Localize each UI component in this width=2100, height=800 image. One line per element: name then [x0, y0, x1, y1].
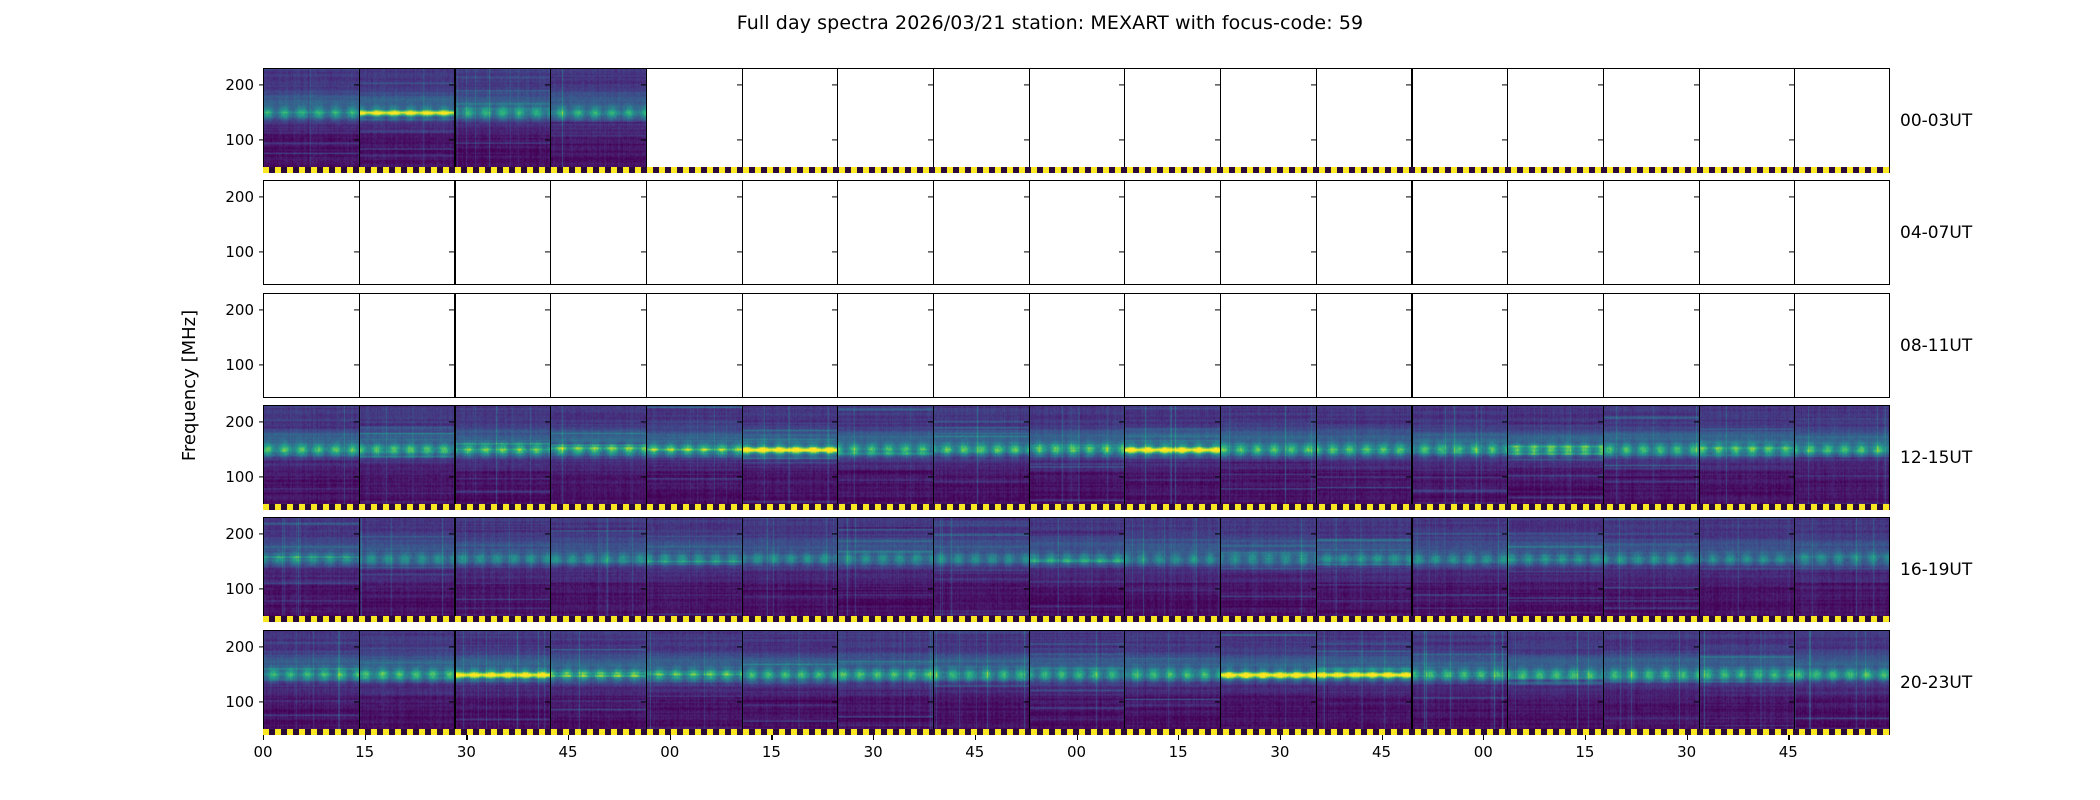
x-tick-label: 00 [253, 743, 272, 761]
spectrogram-tile [454, 517, 550, 622]
inner-tick-mark [928, 646, 933, 647]
y-tick-label: 100 [225, 131, 263, 149]
x-tick-label: 30 [1270, 743, 1289, 761]
inner-tick-mark [737, 646, 742, 647]
panel-separator [359, 517, 360, 622]
inner-tick-mark [1694, 421, 1699, 422]
panel-separator [550, 180, 551, 285]
inner-tick-mark [545, 84, 550, 85]
panel-separator [933, 405, 934, 510]
inner-tick-mark [928, 421, 933, 422]
panel-separator [1124, 630, 1125, 735]
y-axis-label-text: Frequency [MHz] [180, 309, 201, 460]
panel-separator [454, 180, 455, 285]
y-tick-label: 100 [225, 580, 263, 598]
x-tick-mark [1077, 735, 1078, 740]
inner-tick-mark [1789, 701, 1794, 702]
x-tick-label: 30 [1677, 743, 1696, 761]
inner-tick-mark [1406, 139, 1411, 140]
panel-separator [742, 180, 743, 285]
inner-tick-mark [1311, 701, 1316, 702]
panel-separator [933, 293, 934, 398]
inner-tick-mark [1789, 476, 1794, 477]
spectrogram-panel [1699, 630, 1795, 735]
inner-tick-mark [545, 533, 550, 534]
x-tick-mark [1483, 735, 1484, 740]
spectrogram-panel [742, 517, 838, 622]
panel-separator [1507, 180, 1508, 285]
spectrogram-panel [837, 68, 933, 173]
spectrogram-panel [1603, 180, 1699, 285]
spectrogram-panel [1411, 180, 1507, 285]
panel-separator [1124, 517, 1125, 622]
inner-tick-mark [449, 139, 454, 140]
x-tick-label: 15 [762, 743, 781, 761]
panel-separator [837, 293, 838, 398]
inner-tick-mark [1215, 251, 1220, 252]
x-tick-mark [1178, 735, 1179, 740]
bottom-marker-strip [263, 167, 1890, 173]
inner-tick-mark [1215, 476, 1220, 477]
spectrogram-tile [1699, 517, 1795, 622]
spectrogram-tile [742, 405, 838, 510]
spectrogram-tile [933, 405, 1029, 510]
inner-tick-mark [1119, 84, 1124, 85]
x-tick-label: 30 [457, 743, 476, 761]
spectrogram-tile [837, 630, 933, 735]
panel-separator [1603, 180, 1604, 285]
inner-tick-mark [545, 701, 550, 702]
panel-separator [1603, 517, 1604, 622]
panel-separator [359, 405, 360, 510]
panel-separator [1124, 293, 1125, 398]
spectrogram-tile [933, 630, 1029, 735]
inner-tick-mark [832, 588, 837, 589]
spectrogram-panel [933, 405, 1029, 510]
spectrogram-panel [837, 405, 933, 510]
panel-separator [1411, 180, 1412, 285]
panel-separator [1411, 630, 1412, 735]
inner-tick-mark [449, 84, 454, 85]
panel-separator [1507, 517, 1508, 622]
spectrogram-panel [550, 68, 646, 173]
spectrogram-panel [1699, 405, 1795, 510]
spectrogram-panel [646, 517, 742, 622]
y-tick-label: 200 [225, 76, 263, 94]
panel-separator [1603, 68, 1604, 173]
inner-tick-mark [1024, 646, 1029, 647]
inner-tick-mark [1694, 364, 1699, 365]
inner-tick-mark [449, 476, 454, 477]
spectrogram-panel [1220, 517, 1316, 622]
inner-tick-mark [1215, 533, 1220, 534]
inner-tick-mark [737, 533, 742, 534]
panel-separator [1316, 68, 1317, 173]
inner-tick-mark [641, 251, 646, 252]
spectrogram-tile [1124, 405, 1220, 510]
row-label-12-15ut: 12-15UT [1900, 448, 1972, 468]
spectrogram-tile [1220, 405, 1316, 510]
spectrogram-panel [550, 517, 646, 622]
panel-separator [1507, 68, 1508, 173]
spectrogram-tile [1507, 405, 1603, 510]
inner-tick-mark [1406, 251, 1411, 252]
inner-tick-mark [737, 139, 742, 140]
spectrogram-tile [837, 405, 933, 510]
panel-separator [933, 180, 934, 285]
y-tick-label: 200 [225, 188, 263, 206]
inner-tick-mark [1502, 476, 1507, 477]
inner-tick-mark [1024, 251, 1029, 252]
inner-tick-mark [641, 421, 646, 422]
spectrogram-panel [1411, 68, 1507, 173]
inner-tick-mark [1694, 701, 1699, 702]
spectrogram-panel [359, 180, 455, 285]
panel-separator [933, 68, 934, 173]
inner-tick-mark [1311, 84, 1316, 85]
x-tick-mark [568, 735, 569, 740]
spectrogram-panel [742, 180, 838, 285]
spectrogram-panel [359, 405, 455, 510]
spectrogram-panel [1029, 405, 1125, 510]
spectrogram-tile [742, 517, 838, 622]
y-tick-label: 100 [225, 243, 263, 261]
panel-separator [1794, 68, 1795, 173]
spectrogram-panel [1316, 180, 1412, 285]
spectrogram-tile [1603, 405, 1699, 510]
inner-tick-mark [641, 646, 646, 647]
x-tick-label: 00 [1474, 743, 1493, 761]
inner-tick-mark [1502, 421, 1507, 422]
panel-separator [1794, 405, 1795, 510]
inner-tick-mark [354, 421, 359, 422]
inner-tick-mark [449, 196, 454, 197]
x-tick-mark [1585, 735, 1586, 740]
spectrogram-panel [1794, 180, 1890, 285]
panel-separator [550, 405, 551, 510]
panel-separator [1794, 293, 1795, 398]
spectrogram-tile [1794, 517, 1890, 622]
spectrogram-panel [1411, 405, 1507, 510]
y-tick-label: 100 [225, 693, 263, 711]
inner-tick-mark [1119, 251, 1124, 252]
spectrogram-tile [359, 517, 455, 622]
inner-tick-mark [449, 533, 454, 534]
panel-separator [933, 517, 934, 622]
spectrogram-panel [1794, 405, 1890, 510]
inner-tick-mark [1215, 364, 1220, 365]
y-tick-label: 100 [225, 468, 263, 486]
inner-tick-mark [641, 139, 646, 140]
spectrogram-tile [454, 68, 550, 173]
inner-tick-mark [832, 139, 837, 140]
inner-tick-mark [832, 421, 837, 422]
inner-tick-mark [641, 364, 646, 365]
inner-tick-mark [832, 196, 837, 197]
panel-separator [1411, 517, 1412, 622]
spectrogram-panel [646, 180, 742, 285]
spectrogram-panel [359, 293, 455, 398]
inner-tick-mark [1215, 646, 1220, 647]
inner-tick-mark [449, 701, 454, 702]
inner-tick-mark [928, 476, 933, 477]
spectrogram-panel [1220, 180, 1316, 285]
inner-tick-mark [1598, 84, 1603, 85]
panel-separator [1699, 180, 1700, 285]
spectrogram-tile [646, 405, 742, 510]
inner-tick-mark [1789, 251, 1794, 252]
inner-tick-mark [354, 309, 359, 310]
inner-tick-mark [1406, 309, 1411, 310]
inner-tick-mark [1215, 309, 1220, 310]
inner-tick-mark [737, 196, 742, 197]
inner-tick-mark [1598, 476, 1603, 477]
spectrogram-panel [263, 293, 359, 398]
spectrogram-panel [646, 630, 742, 735]
panel-separator [1411, 405, 1412, 510]
panel-separator [454, 517, 455, 622]
panel-separator [1220, 405, 1221, 510]
inner-tick-mark [1406, 421, 1411, 422]
inner-tick-mark [1119, 701, 1124, 702]
spectrogram-panel [1603, 68, 1699, 173]
inner-tick-mark [737, 364, 742, 365]
spectrogram-tile [1603, 517, 1699, 622]
inner-tick-mark [1406, 84, 1411, 85]
spectrogram-panel [742, 68, 838, 173]
inner-tick-mark [1311, 533, 1316, 534]
spectrogram-tile [646, 630, 742, 735]
panel-separator [1603, 405, 1604, 510]
y-tick-label: 200 [225, 525, 263, 543]
panel-separator [1699, 630, 1700, 735]
spectrogram-panel [837, 293, 933, 398]
y-tick-label: 200 [225, 301, 263, 319]
panel-separator [1220, 180, 1221, 285]
inner-tick-mark [832, 364, 837, 365]
y-tick-mark [259, 364, 264, 365]
spectrogram-panel [646, 293, 742, 398]
panel-separator [1124, 405, 1125, 510]
inner-tick-mark [1694, 533, 1699, 534]
y-tick-mark [259, 309, 264, 310]
spectrogram-panel [1029, 630, 1125, 735]
inner-tick-mark [1119, 139, 1124, 140]
panel-separator [1603, 630, 1604, 735]
inner-tick-mark [1789, 421, 1794, 422]
inner-tick-mark [1024, 421, 1029, 422]
spectrogram-tile [1411, 630, 1507, 735]
inner-tick-mark [449, 364, 454, 365]
panel-separator [837, 517, 838, 622]
y-tick-label: 200 [225, 413, 263, 431]
panel-separator [1603, 293, 1604, 398]
y-tick-mark [259, 139, 264, 140]
panel-separator [646, 180, 647, 285]
inner-tick-mark [545, 646, 550, 647]
spectrogram-panel [1794, 517, 1890, 622]
inner-tick-mark [1789, 646, 1794, 647]
spectrogram-panel [1316, 517, 1412, 622]
inner-tick-mark [1598, 533, 1603, 534]
inner-tick-mark [737, 476, 742, 477]
row-label-16-19ut: 16-19UT [1900, 560, 1972, 580]
panel-separator [646, 293, 647, 398]
inner-tick-mark [832, 533, 837, 534]
inner-tick-mark [1502, 139, 1507, 140]
panel-separator [646, 517, 647, 622]
panel-separator [550, 68, 551, 173]
inner-tick-mark [354, 588, 359, 589]
spectrogram-tile [1029, 630, 1125, 735]
spectrogram-panel [454, 180, 550, 285]
panel-separator [1220, 517, 1221, 622]
panel-separator [742, 630, 743, 735]
spectrogram-figure: Full day spectra 2026/03/21 station: MEX… [0, 0, 2100, 800]
inner-tick-mark [1502, 196, 1507, 197]
spectrogram-panel [1029, 293, 1125, 398]
x-tick-mark [466, 735, 467, 740]
inner-tick-mark [832, 84, 837, 85]
inner-tick-mark [1502, 701, 1507, 702]
spectrogram-panel [1507, 180, 1603, 285]
inner-tick-mark [1215, 421, 1220, 422]
x-tick-mark [975, 735, 976, 740]
inner-tick-mark [928, 309, 933, 310]
inner-tick-mark [354, 476, 359, 477]
inner-tick-mark [545, 251, 550, 252]
spectrogram-panel [1220, 68, 1316, 173]
spectrogram-panel [1220, 293, 1316, 398]
panel-separator [1316, 293, 1317, 398]
spectrogram-panel [933, 293, 1029, 398]
panel-separator [550, 517, 551, 622]
panel-separator [1029, 405, 1030, 510]
panel-separator [359, 180, 360, 285]
inner-tick-mark [354, 364, 359, 365]
inner-tick-mark [449, 646, 454, 647]
panel-separator [1794, 630, 1795, 735]
spectrogram-row-08-11ut: 200100 [263, 293, 1890, 398]
spectrogram-panel [1699, 180, 1795, 285]
spectrogram-tile [359, 630, 455, 735]
spectrogram-panel [359, 68, 455, 173]
inner-tick-mark [641, 84, 646, 85]
inner-tick-mark [1502, 309, 1507, 310]
spectrogram-panel [263, 517, 359, 622]
inner-tick-mark [1119, 309, 1124, 310]
spectrogram-panel [1507, 293, 1603, 398]
spectrogram-tile [454, 630, 550, 735]
spectrogram-panel [454, 630, 550, 735]
panel-separator [742, 68, 743, 173]
spectrogram-tile [933, 517, 1029, 622]
inner-tick-mark [928, 139, 933, 140]
spectrogram-panel [742, 293, 838, 398]
inner-tick-mark [354, 251, 359, 252]
inner-tick-mark [1694, 196, 1699, 197]
inner-tick-mark [1406, 701, 1411, 702]
spectrogram-panel [933, 517, 1029, 622]
panel-separator [1029, 517, 1030, 622]
panel-separator [1699, 517, 1700, 622]
spectrogram-tile [454, 405, 550, 510]
inner-tick-mark [354, 701, 359, 702]
spectrogram-panel [837, 517, 933, 622]
panel-separator [454, 630, 455, 735]
spectrogram-tile [1029, 405, 1125, 510]
inner-tick-mark [1024, 309, 1029, 310]
inner-tick-mark [1406, 646, 1411, 647]
spectrogram-panel [454, 405, 550, 510]
spectrogram-tile [1220, 630, 1316, 735]
spectrogram-tile [550, 68, 646, 173]
inner-tick-mark [1789, 84, 1794, 85]
spectrogram-tile [263, 630, 359, 735]
y-tick-mark [259, 251, 264, 252]
spectrogram-panel [1124, 68, 1220, 173]
spectrogram-tile [1794, 630, 1890, 735]
inner-tick-mark [354, 533, 359, 534]
spectrogram-panel [1124, 630, 1220, 735]
panel-separator [1124, 68, 1125, 173]
inner-tick-mark [1502, 588, 1507, 589]
panel-separator [1411, 68, 1412, 173]
panel-separator [1316, 180, 1317, 285]
spectrogram-panel [646, 68, 742, 173]
x-tick-mark [1687, 735, 1688, 740]
spectrogram-tile [742, 630, 838, 735]
inner-tick-mark [928, 196, 933, 197]
spectrogram-panel [1507, 630, 1603, 735]
x-tick-label: 15 [1169, 743, 1188, 761]
panel-separator [837, 180, 838, 285]
inner-tick-mark [1024, 196, 1029, 197]
inner-tick-mark [737, 421, 742, 422]
spectrogram-panel [933, 68, 1029, 173]
panel-separator [1220, 630, 1221, 735]
inner-tick-mark [1215, 84, 1220, 85]
spectrogram-tile [1124, 517, 1220, 622]
spectrogram-tile [1411, 517, 1507, 622]
panel-separator [1029, 68, 1030, 173]
y-tick-label: 200 [225, 638, 263, 656]
figure-title: Full day spectra 2026/03/21 station: MEX… [0, 12, 2100, 34]
x-tick-label: 15 [1575, 743, 1594, 761]
inner-tick-mark [449, 309, 454, 310]
y-tick-label: 100 [225, 356, 263, 374]
inner-tick-mark [1406, 533, 1411, 534]
inner-tick-mark [1598, 196, 1603, 197]
inner-tick-mark [545, 364, 550, 365]
spectrogram-tile [550, 405, 646, 510]
inner-tick-mark [545, 476, 550, 477]
x-tick-mark [873, 735, 874, 740]
spectrogram-panel [1029, 68, 1125, 173]
spectrogram-panel [1220, 405, 1316, 510]
inner-tick-mark [1598, 139, 1603, 140]
inner-tick-mark [737, 84, 742, 85]
spectrogram-panel [550, 405, 646, 510]
inner-tick-mark [928, 701, 933, 702]
inner-tick-mark [737, 309, 742, 310]
spectrogram-panel [1124, 517, 1220, 622]
inner-tick-mark [1024, 701, 1029, 702]
y-tick-mark [259, 421, 264, 422]
spectrogram-tile [1220, 517, 1316, 622]
x-tick-label: 15 [355, 743, 374, 761]
spectrogram-panel [1507, 405, 1603, 510]
